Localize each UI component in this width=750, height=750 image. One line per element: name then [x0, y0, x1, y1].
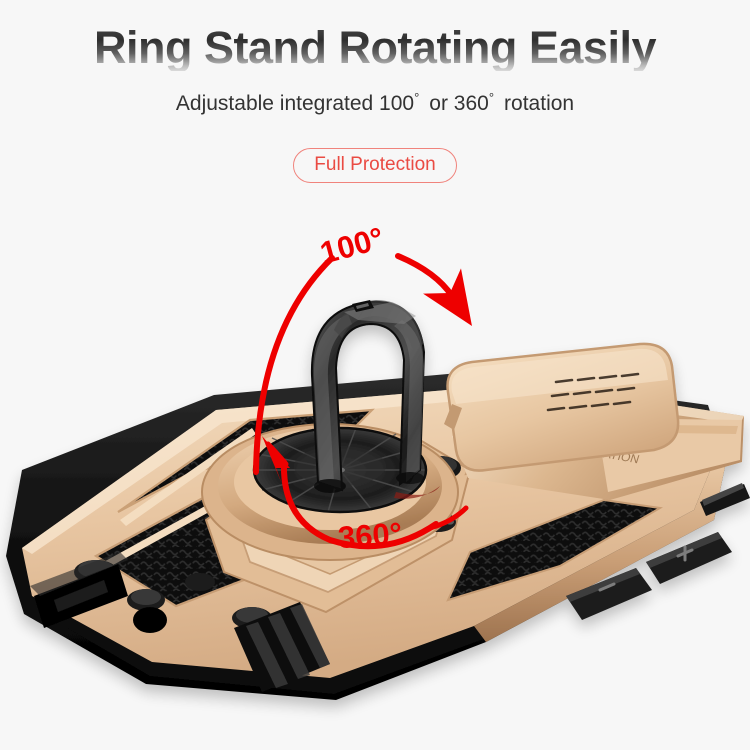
camera-slider-cover [448, 344, 679, 471]
speaker-cutout [133, 607, 167, 633]
product-marketing-banner: Ring Stand Rotating Easily Adjustable in… [0, 0, 750, 750]
product-illustration: DISCOVER INNOVATION [0, 0, 750, 750]
tilt-arc-right [398, 256, 452, 296]
phone-case: DISCOVER INNOVATION [6, 300, 750, 700]
